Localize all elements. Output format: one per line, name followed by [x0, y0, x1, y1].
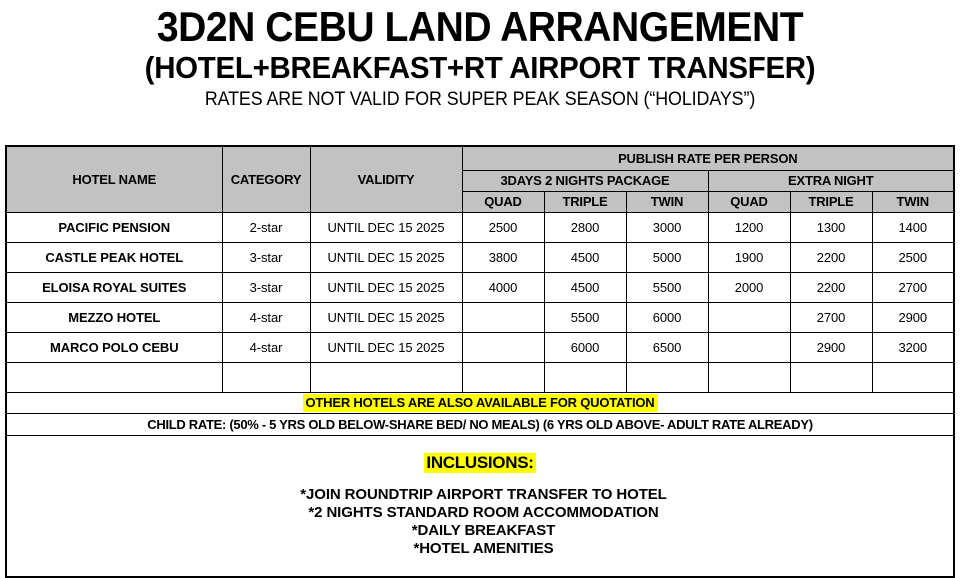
cell-extra-quad [708, 362, 790, 392]
cell-extra-quad [708, 332, 790, 362]
inclusions-title: INCLUSIONS: [424, 453, 535, 473]
table-row: MEZZO HOTEL 4-star UNTIL DEC 15 2025 550… [6, 302, 954, 332]
table-row: ELOISA ROYAL SUITES 3-star UNTIL DEC 15 … [6, 272, 954, 302]
col-header-extra-triple: TRIPLE [790, 191, 872, 212]
table-header: HOTEL NAME CATEGORY VALIDITY PUBLISH RAT… [6, 146, 954, 212]
cell-category: 2-star [222, 212, 310, 242]
cell-extra-quad: 2000 [708, 272, 790, 302]
cell-extra-twin: 1400 [872, 212, 954, 242]
cell-hotel-name: ELOISA ROYAL SUITES [6, 272, 222, 302]
other-hotels-note-cell: OTHER HOTELS ARE ALSO AVAILABLE FOR QUOT… [6, 392, 954, 413]
inclusions-spacer [10, 473, 950, 486]
inclusions-row: INCLUSIONS: *JOIN ROUNDTRIP AIRPORT TRAN… [6, 435, 954, 577]
child-rate-note-text: CHILD RATE: (50% - 5 YRS OLD BELOW-SHARE… [6, 413, 954, 435]
col-header-validity: VALIDITY [310, 146, 462, 212]
cell-package-quad: 2500 [462, 212, 544, 242]
cell-extra-twin: 2900 [872, 302, 954, 332]
header-row-1: HOTEL NAME CATEGORY VALIDITY PUBLISH RAT… [6, 146, 954, 170]
cell-extra-triple: 2700 [790, 302, 872, 332]
page-title-line2: (HOTEL+BREAKFAST+RT AIRPORT TRANSFER) [24, 50, 936, 86]
inclusions-item: *2 NIGHTS STANDARD ROOM ACCOMMODATION [17, 504, 950, 522]
cell-package-twin [626, 362, 708, 392]
col-header-extra-quad: QUAD [708, 191, 790, 212]
cell-extra-quad [708, 302, 790, 332]
cell-package-triple: 6000 [544, 332, 626, 362]
rate-sheet-page: 3D2N CEBU LAND ARRANGEMENT (HOTEL+BREAKF… [0, 0, 960, 577]
cell-validity: UNTIL DEC 15 2025 [310, 242, 462, 272]
other-hotels-note-row: OTHER HOTELS ARE ALSO AVAILABLE FOR QUOT… [6, 392, 954, 413]
cell-category [222, 362, 310, 392]
cell-extra-triple [790, 362, 872, 392]
cell-package-twin: 3000 [626, 212, 708, 242]
col-header-category: CATEGORY [222, 146, 310, 212]
cell-hotel-name [6, 362, 222, 392]
cell-extra-twin: 3200 [872, 332, 954, 362]
cell-validity [310, 362, 462, 392]
rates-table-wrap: HOTEL NAME CATEGORY VALIDITY PUBLISH RAT… [5, 145, 953, 578]
cell-package-quad: 4000 [462, 272, 544, 302]
table-row: MARCO POLO CEBU 4-star UNTIL DEC 15 2025… [6, 332, 954, 362]
cell-category: 4-star [222, 332, 310, 362]
cell-extra-triple: 1300 [790, 212, 872, 242]
cell-extra-triple: 2900 [790, 332, 872, 362]
col-header-hotel-name: HOTEL NAME [6, 146, 222, 212]
cell-package-quad [462, 332, 544, 362]
col-header-publish-rate: PUBLISH RATE PER PERSON [462, 146, 954, 170]
page-subtitle: RATES ARE NOT VALID FOR SUPER PEAK SEASO… [29, 88, 931, 112]
cell-package-twin: 6000 [626, 302, 708, 332]
cell-validity: UNTIL DEC 15 2025 [310, 212, 462, 242]
cell-validity: UNTIL DEC 15 2025 [310, 272, 462, 302]
cell-hotel-name: CASTLE PEAK HOTEL [6, 242, 222, 272]
col-header-extra-twin: TWIN [872, 191, 954, 212]
cell-extra-quad: 1200 [708, 212, 790, 242]
cell-hotel-name: MEZZO HOTEL [6, 302, 222, 332]
cell-package-quad: 3800 [462, 242, 544, 272]
cell-package-quad [462, 362, 544, 392]
inclusions-item: *JOIN ROUNDTRIP AIRPORT TRANSFER TO HOTE… [17, 486, 950, 504]
child-rate-note-row: CHILD RATE: (50% - 5 YRS OLD BELOW-SHARE… [6, 413, 954, 435]
page-title-line1: 3D2N CEBU LAND ARRANGEMENT [34, 4, 927, 50]
cell-category: 4-star [222, 302, 310, 332]
cell-validity: UNTIL DEC 15 2025 [310, 332, 462, 362]
col-header-extra-night-group: EXTRA NIGHT [708, 170, 954, 191]
col-header-package-quad: QUAD [462, 191, 544, 212]
inclusions-item: *DAILY BREAKFAST [17, 522, 950, 540]
col-header-package-triple: TRIPLE [544, 191, 626, 212]
cell-package-triple: 4500 [544, 242, 626, 272]
table-body: PACIFIC PENSION 2-star UNTIL DEC 15 2025… [6, 212, 954, 577]
cell-extra-quad: 1900 [708, 242, 790, 272]
cell-hotel-name: MARCO POLO CEBU [6, 332, 222, 362]
table-row: CASTLE PEAK HOTEL 3-star UNTIL DEC 15 20… [6, 242, 954, 272]
cell-extra-twin: 2700 [872, 272, 954, 302]
cell-package-triple: 5500 [544, 302, 626, 332]
cell-extra-twin: 2500 [872, 242, 954, 272]
cell-package-twin: 6500 [626, 332, 708, 362]
cell-validity: UNTIL DEC 15 2025 [310, 302, 462, 332]
cell-category: 3-star [222, 242, 310, 272]
cell-extra-triple: 2200 [790, 272, 872, 302]
cell-package-triple: 4500 [544, 272, 626, 302]
inclusions-list: *JOIN ROUNDTRIP AIRPORT TRANSFER TO HOTE… [10, 486, 950, 558]
table-row-empty [6, 362, 954, 392]
cell-category: 3-star [222, 272, 310, 302]
document-header: 3D2N CEBU LAND ARRANGEMENT (HOTEL+BREAKF… [0, 0, 960, 112]
rates-table: HOTEL NAME CATEGORY VALIDITY PUBLISH RAT… [5, 145, 955, 578]
cell-package-twin: 5000 [626, 242, 708, 272]
cell-package-twin: 5500 [626, 272, 708, 302]
cell-hotel-name: PACIFIC PENSION [6, 212, 222, 242]
cell-extra-triple: 2200 [790, 242, 872, 272]
cell-package-triple [544, 362, 626, 392]
other-hotels-note-text: OTHER HOTELS ARE ALSO AVAILABLE FOR QUOT… [303, 394, 658, 412]
inclusions-item: *HOTEL AMENITIES [17, 540, 950, 558]
table-row: PACIFIC PENSION 2-star UNTIL DEC 15 2025… [6, 212, 954, 242]
cell-package-triple: 2800 [544, 212, 626, 242]
cell-package-quad [462, 302, 544, 332]
col-header-package-twin: TWIN [626, 191, 708, 212]
inclusions-cell: INCLUSIONS: *JOIN ROUNDTRIP AIRPORT TRAN… [6, 435, 954, 577]
cell-extra-twin [872, 362, 954, 392]
col-header-package-group: 3DAYS 2 NIGHTS PACKAGE [462, 170, 708, 191]
